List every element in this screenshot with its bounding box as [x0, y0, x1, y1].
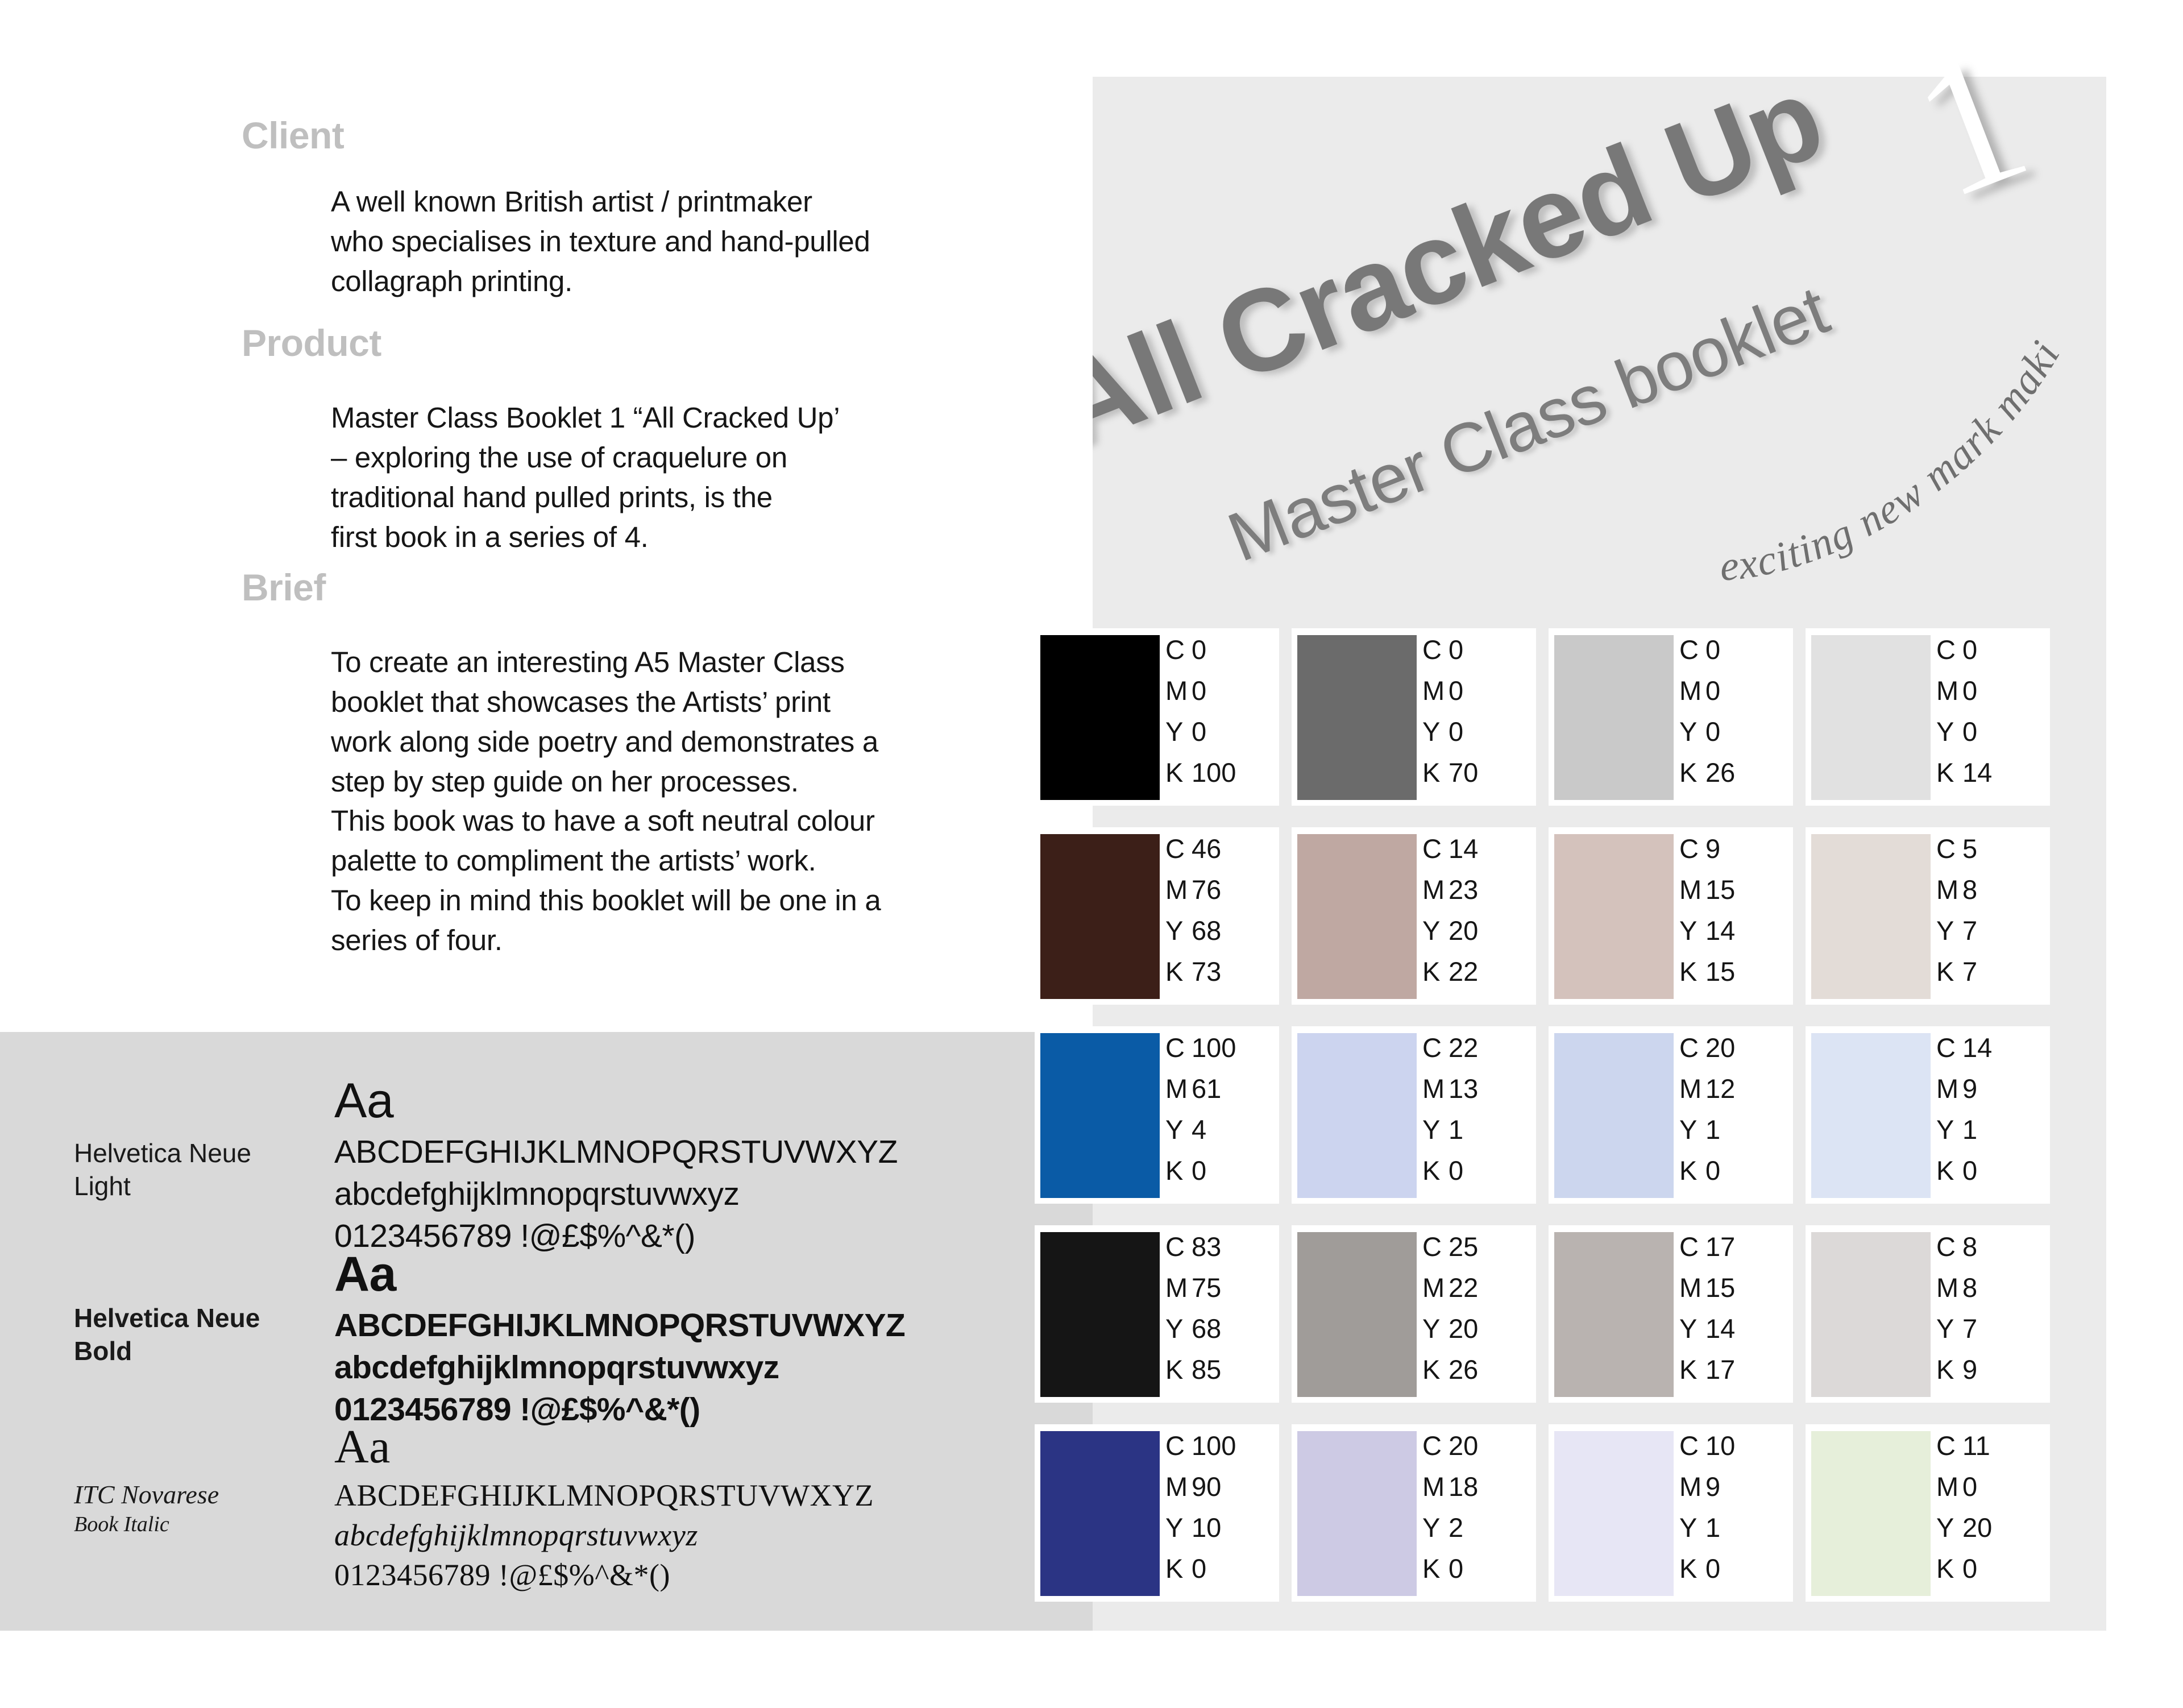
cmyk-values: C0M0Y0K100 — [1165, 629, 1268, 793]
cmyk-channel-value: 0 — [1449, 635, 1463, 665]
cmyk-value-row: K9 — [1936, 1349, 2039, 1390]
cmyk-channel-label: M — [1936, 670, 1962, 711]
cmyk-value-row: C8 — [1936, 1226, 2039, 1267]
colour-swatch-card: C17M15Y14K17 — [1549, 1225, 1793, 1403]
text-line: series of four. — [331, 921, 881, 960]
cmyk-values: C25M22Y20K26 — [1422, 1226, 1525, 1390]
cmyk-channel-label: C — [1422, 1226, 1449, 1267]
cmyk-channel-label: Y — [1936, 711, 1962, 752]
cmyk-channel-value: 20 — [1962, 1512, 1992, 1543]
cmyk-channel-label: C — [1679, 1226, 1705, 1267]
cmyk-value-row: Y20 — [1422, 910, 1525, 951]
cmyk-channel-value: 14 — [1962, 757, 1992, 787]
cmyk-channel-label: Y — [1165, 711, 1192, 752]
cmyk-channel-label: M — [1936, 869, 1962, 910]
cmyk-channel-value: 8 — [1962, 874, 1977, 905]
text-line: booklet that showcases the Artists’ prin… — [331, 682, 881, 722]
cmyk-channel-label: K — [1165, 951, 1192, 992]
cmyk-channel-value: 15 — [1705, 956, 1735, 986]
cmyk-value-row: C22 — [1422, 1027, 1525, 1068]
cmyk-channel-label: C — [1679, 1425, 1705, 1466]
cmyk-channel-value: 20 — [1449, 1313, 1478, 1344]
text-line: To keep in mind this booklet will be one… — [331, 881, 881, 921]
cmyk-channel-value: 0 — [1705, 635, 1720, 665]
typeface-specimen-helvetica-light: Aa ABCDEFGHIJKLMNOPQRSTUVWXYZ abcdefghij… — [334, 1075, 898, 1257]
cmyk-channel-label: Y — [1165, 1507, 1192, 1548]
cmyk-value-row: C100 — [1165, 1027, 1268, 1068]
colour-swatch-chip — [1811, 1431, 1931, 1596]
cmyk-channel-value: 17 — [1705, 1354, 1735, 1384]
cmyk-value-row: M0 — [1936, 1466, 2039, 1507]
cmyk-channel-label: C — [1165, 828, 1192, 869]
colour-swatch-chip — [1297, 1232, 1417, 1397]
cmyk-channel-label: C — [1165, 629, 1192, 670]
cmyk-value-row: K0 — [1679, 1150, 1782, 1191]
section-heading-brief: Brief — [242, 569, 326, 606]
typeface-name-itc-novarese: ITC Novarese Book Italic — [74, 1478, 219, 1538]
cmyk-value-row: M0 — [1679, 670, 1782, 711]
cmyk-values: C0M0Y0K70 — [1422, 629, 1525, 793]
cmyk-channel-value: 0 — [1192, 675, 1206, 706]
cmyk-values: C17M15Y14K17 — [1679, 1226, 1782, 1390]
cmyk-channel-label: M — [1679, 1068, 1705, 1109]
cmyk-channel-value: 68 — [1192, 1313, 1221, 1344]
cmyk-value-row: M18 — [1422, 1466, 1525, 1507]
text-line: A well known British artist / printmaker — [331, 182, 870, 222]
cmyk-channel-label: M — [1165, 1068, 1192, 1109]
text-line: – exploring the use of craquelure on — [331, 438, 840, 478]
typeface-family: ITC Novarese — [74, 1480, 219, 1509]
cmyk-channel-value: 1 — [1705, 1512, 1720, 1543]
cmyk-value-row: Y68 — [1165, 1308, 1268, 1349]
typeface-name-helvetica-bold: Helvetica Neue Bold — [74, 1302, 260, 1367]
colour-swatch-card: C0M0Y0K26 — [1549, 628, 1793, 806]
cmyk-value-row: C20 — [1422, 1425, 1525, 1466]
colour-swatch-chip — [1554, 1033, 1674, 1198]
cmyk-channel-value: 17 — [1705, 1232, 1735, 1262]
colour-swatch-card: C9M15Y14K15 — [1549, 827, 1793, 1005]
colour-swatch-chip — [1297, 1033, 1417, 1198]
cmyk-channel-value: 0 — [1705, 716, 1720, 747]
colour-swatch-card: C14M23Y20K22 — [1292, 827, 1536, 1005]
cmyk-channel-value: 26 — [1705, 757, 1735, 787]
cmyk-value-row: K0 — [1422, 1150, 1525, 1191]
cmyk-value-row: M0 — [1165, 670, 1268, 711]
cmyk-channel-label: K — [1165, 1548, 1192, 1589]
cmyk-channel-label: C — [1936, 1226, 1962, 1267]
cmyk-channel-label: C — [1936, 1425, 1962, 1466]
cmyk-value-row: C10 — [1679, 1425, 1782, 1466]
cmyk-channel-label: C — [1165, 1425, 1192, 1466]
cmyk-value-row: Y0 — [1936, 711, 2039, 752]
cmyk-value-row: C100 — [1165, 1425, 1268, 1466]
cmyk-value-row: K26 — [1679, 752, 1782, 793]
colour-swatch-card: C20M12Y1K0 — [1549, 1026, 1793, 1204]
cmyk-value-row: Y4 — [1165, 1109, 1268, 1150]
cmyk-channel-label: M — [1679, 670, 1705, 711]
cmyk-values: C100M61Y4K0 — [1165, 1027, 1268, 1191]
cmyk-channel-label: Y — [1936, 910, 1962, 951]
cmyk-channel-label: Y — [1422, 910, 1449, 951]
typeface-weight: Bold — [74, 1335, 260, 1368]
cmyk-values: C5M8Y7K7 — [1936, 828, 2039, 992]
cmyk-channel-value: 0 — [1962, 1553, 1977, 1583]
brief-column: Client A well known British artist / pri… — [0, 0, 1001, 1001]
specimen-uppercase: ABCDEFGHIJKLMNOPQRSTUVWXYZ — [334, 1475, 874, 1515]
cmyk-channel-label: C — [1165, 1027, 1192, 1068]
cmyk-channel-value: 15 — [1705, 874, 1735, 905]
cmyk-channel-label: C — [1679, 629, 1705, 670]
colour-swatch-chip — [1554, 1431, 1674, 1596]
cmyk-value-row: K14 — [1936, 752, 2039, 793]
section-heading-client: Client — [242, 117, 344, 154]
colour-swatch-chip — [1040, 1033, 1160, 1198]
cmyk-channel-value: 14 — [1962, 1033, 1992, 1063]
cmyk-channel-value: 13 — [1449, 1073, 1478, 1104]
cmyk-channel-label: Y — [1936, 1507, 1962, 1548]
cmyk-channel-value: 14 — [1705, 1313, 1735, 1344]
section-body-product: Master Class Booklet 1 “All Cracked Up’ … — [331, 398, 840, 557]
colour-swatch-card: C0M0Y0K100 — [1035, 628, 1279, 806]
cmyk-channel-label: M — [1422, 869, 1449, 910]
text-line: This book was to have a soft neutral col… — [331, 801, 881, 841]
cmyk-values: C14M9Y1K0 — [1936, 1027, 2039, 1191]
cmyk-channel-value: 9 — [1705, 834, 1720, 864]
cmyk-channel-value: 15 — [1705, 1272, 1735, 1303]
cmyk-value-row: Y68 — [1165, 910, 1268, 951]
cmyk-channel-label: K — [1936, 1548, 1962, 1589]
cmyk-values: C9M15Y14K15 — [1679, 828, 1782, 992]
cmyk-channel-value: 22 — [1449, 1033, 1478, 1063]
cmyk-channel-value: 76 — [1192, 874, 1221, 905]
cmyk-value-row: M75 — [1165, 1267, 1268, 1308]
cmyk-value-row: K0 — [1422, 1548, 1525, 1589]
cmyk-channel-label: C — [1936, 1027, 1962, 1068]
cmyk-value-row: K0 — [1936, 1150, 2039, 1191]
typeface-family: Helvetica Neue — [74, 1138, 251, 1168]
specimen-lowercase: abcdefghijklmnopqrstuvwxyz — [334, 1173, 898, 1215]
cmyk-channel-value: 0 — [1449, 1553, 1463, 1583]
cmyk-value-row: K70 — [1422, 752, 1525, 793]
typeface-weight: Book Italic — [74, 1511, 219, 1539]
section-heading-product: Product — [242, 324, 381, 362]
cmyk-value-row: K15 — [1679, 951, 1782, 992]
cmyk-value-row: Y14 — [1679, 910, 1782, 951]
cmyk-channel-value: 0 — [1192, 1155, 1206, 1185]
cmyk-value-row: K0 — [1936, 1548, 2039, 1589]
cmyk-value-row: C83 — [1165, 1226, 1268, 1267]
cmyk-channel-value: 100 — [1192, 1431, 1236, 1461]
text-line: work along side poetry and demonstrates … — [331, 722, 881, 762]
cmyk-channel-value: 0 — [1705, 1553, 1720, 1583]
cmyk-channel-label: K — [1165, 1150, 1192, 1191]
cmyk-channel-value: 0 — [1705, 1155, 1720, 1185]
cmyk-channel-value: 75 — [1192, 1272, 1221, 1303]
cmyk-channel-label: C — [1679, 828, 1705, 869]
cmyk-value-row: M12 — [1679, 1068, 1782, 1109]
cmyk-channel-value: 22 — [1449, 956, 1478, 986]
colour-swatch-card: C0M0Y0K14 — [1806, 628, 2050, 806]
cmyk-channel-value: 100 — [1192, 757, 1236, 787]
cmyk-channel-value: 83 — [1192, 1232, 1221, 1262]
cmyk-value-row: M76 — [1165, 869, 1268, 910]
cmyk-channel-value: 0 — [1449, 716, 1463, 747]
cmyk-channel-value: 0 — [1962, 1471, 1977, 1502]
cmyk-values: C46M76Y68K73 — [1165, 828, 1268, 992]
cmyk-channel-value: 1 — [1962, 1114, 1977, 1145]
cmyk-channel-label: K — [1936, 951, 1962, 992]
cmyk-value-row: K0 — [1165, 1150, 1268, 1191]
cmyk-channel-label: C — [1422, 1027, 1449, 1068]
cmyk-value-row: K0 — [1679, 1548, 1782, 1589]
cmyk-values: C10M9Y1K0 — [1679, 1425, 1782, 1589]
cmyk-value-row: M9 — [1679, 1466, 1782, 1507]
cmyk-channel-value: 5 — [1962, 834, 1977, 864]
cmyk-channel-label: M — [1679, 869, 1705, 910]
cmyk-channel-value: 9 — [1962, 1073, 1977, 1104]
cmyk-value-row: K26 — [1422, 1349, 1525, 1390]
cmyk-value-row: M9 — [1936, 1068, 2039, 1109]
cmyk-channel-value: 70 — [1449, 757, 1478, 787]
cmyk-channel-value: 1 — [1449, 1114, 1463, 1145]
cmyk-value-row: C20 — [1679, 1027, 1782, 1068]
colour-swatch-chip — [1297, 635, 1417, 800]
cmyk-channel-value: 8 — [1962, 1232, 1977, 1262]
cmyk-channel-label: K — [1679, 1150, 1705, 1191]
cmyk-channel-value: 20 — [1705, 1033, 1735, 1063]
cmyk-channel-label: Y — [1936, 1308, 1962, 1349]
cmyk-value-row: K22 — [1422, 951, 1525, 992]
cmyk-channel-label: K — [1422, 951, 1449, 992]
cmyk-value-row: M0 — [1422, 670, 1525, 711]
colour-swatch-card: C22M13Y1K0 — [1292, 1026, 1536, 1204]
specimen-aa: Aa — [334, 1075, 898, 1127]
cmyk-channel-label: Y — [1422, 1507, 1449, 1548]
cmyk-channel-value: 10 — [1192, 1512, 1221, 1543]
cmyk-channel-value: 0 — [1449, 675, 1463, 706]
colour-swatch-card: C20M18Y2K0 — [1292, 1424, 1536, 1602]
typeface-specimen-itc-novarese: Aa ABCDEFGHIJKLMNOPQRSTUVWXYZ abcdefghij… — [334, 1421, 874, 1595]
cmyk-value-row: K73 — [1165, 951, 1268, 992]
cmyk-value-row: C14 — [1422, 828, 1525, 869]
cmyk-value-row: Y20 — [1936, 1507, 2039, 1548]
cmyk-value-row: C46 — [1165, 828, 1268, 869]
cmyk-channel-label: C — [1422, 1425, 1449, 1466]
text-line: collagraph printing. — [331, 262, 870, 301]
cmyk-channel-label: M — [1679, 1267, 1705, 1308]
cmyk-channel-value: 8 — [1962, 1272, 1977, 1303]
cmyk-channel-label: Y — [1936, 1109, 1962, 1150]
cmyk-value-row: C0 — [1165, 629, 1268, 670]
cmyk-value-row: C14 — [1936, 1027, 2039, 1068]
specimen-uppercase: ABCDEFGHIJKLMNOPQRSTUVWXYZ — [334, 1131, 898, 1173]
cmyk-channel-label: Y — [1165, 1308, 1192, 1349]
cmyk-value-row: K0 — [1165, 1548, 1268, 1589]
colour-swatch-card: C11M0Y20K0 — [1806, 1424, 2050, 1602]
cmyk-channel-value: 12 — [1705, 1073, 1735, 1104]
cmyk-value-row: C5 — [1936, 828, 2039, 869]
cmyk-values: C0M0Y0K14 — [1936, 629, 2039, 793]
section-body-brief: To create an interesting A5 Master Class… — [331, 642, 881, 960]
colour-swatch-chip — [1040, 635, 1160, 800]
cmyk-channel-label: K — [1165, 1349, 1192, 1390]
cmyk-channel-value: 68 — [1192, 915, 1221, 946]
section-body-client: A well known British artist / printmaker… — [331, 182, 870, 301]
cmyk-channel-label: Y — [1422, 711, 1449, 752]
typeface-name-helvetica-light: Helvetica Neue Light — [74, 1137, 251, 1203]
cmyk-channel-label: K — [1679, 752, 1705, 793]
cmyk-value-row: C25 — [1422, 1226, 1525, 1267]
cmyk-values: C0M0Y0K26 — [1679, 629, 1782, 793]
cmyk-channel-value: 26 — [1449, 1354, 1478, 1384]
colour-swatch-chip — [1554, 1232, 1674, 1397]
cmyk-value-row: M22 — [1422, 1267, 1525, 1308]
colour-swatch-chip — [1040, 1232, 1160, 1397]
cmyk-channel-label: Y — [1165, 1109, 1192, 1150]
colour-swatch-chip — [1297, 834, 1417, 999]
cmyk-channel-value: 2 — [1449, 1512, 1463, 1543]
cmyk-channel-value: 7 — [1962, 956, 1977, 986]
cmyk-channel-label: Y — [1422, 1308, 1449, 1349]
cmyk-channel-value: 1 — [1705, 1114, 1720, 1145]
cmyk-channel-label: Y — [1679, 1308, 1705, 1349]
cmyk-value-row: Y7 — [1936, 1308, 2039, 1349]
cmyk-channel-value: 0 — [1705, 675, 1720, 706]
cmyk-channel-value: 22 — [1449, 1272, 1478, 1303]
colour-swatch-chip — [1040, 1431, 1160, 1596]
cmyk-channel-label: M — [1165, 670, 1192, 711]
cmyk-channel-label: M — [1936, 1068, 1962, 1109]
cmyk-channel-value: 9 — [1705, 1471, 1720, 1502]
cmyk-channel-value: 18 — [1449, 1471, 1478, 1502]
cmyk-value-row: K17 — [1679, 1349, 1782, 1390]
cmyk-value-row: C17 — [1679, 1226, 1782, 1267]
cmyk-values: C20M18Y2K0 — [1422, 1425, 1525, 1589]
colour-swatch-card: C83M75Y68K85 — [1035, 1225, 1279, 1403]
cmyk-values: C100M90Y10K0 — [1165, 1425, 1268, 1589]
cmyk-value-row: Y0 — [1165, 711, 1268, 752]
colour-swatch-chip — [1811, 635, 1931, 800]
cmyk-channel-label: M — [1422, 670, 1449, 711]
cmyk-value-row: C11 — [1936, 1425, 2039, 1466]
cmyk-channel-value: 9 — [1962, 1354, 1977, 1384]
colour-swatch-chip — [1040, 834, 1160, 999]
cmyk-value-row: K100 — [1165, 752, 1268, 793]
cmyk-channel-value: 7 — [1962, 1313, 1977, 1344]
cmyk-channel-value: 14 — [1705, 915, 1735, 946]
cmyk-channel-value: 10 — [1705, 1431, 1735, 1461]
cmyk-value-row: M0 — [1936, 670, 2039, 711]
cmyk-value-row: M8 — [1936, 1267, 2039, 1308]
cmyk-channel-value: 4 — [1192, 1114, 1206, 1145]
cmyk-value-row: Y0 — [1679, 711, 1782, 752]
colour-swatch-card: C14M9Y1K0 — [1806, 1026, 2050, 1204]
cmyk-channel-label: C — [1936, 828, 1962, 869]
cmyk-channel-value: 100 — [1192, 1033, 1236, 1063]
cmyk-channel-label: M — [1165, 1466, 1192, 1507]
cmyk-channel-label: C — [1422, 828, 1449, 869]
cmyk-channel-value: 0 — [1192, 1553, 1206, 1583]
cmyk-values: C14M23Y20K22 — [1422, 828, 1525, 992]
cmyk-channel-label: C — [1422, 629, 1449, 670]
cmyk-value-row: C0 — [1936, 629, 2039, 670]
text-line: first book in a series of 4. — [331, 517, 840, 557]
cmyk-channel-label: K — [1936, 1349, 1962, 1390]
colour-swatch-card: C25M22Y20K26 — [1292, 1225, 1536, 1403]
cmyk-values: C11M0Y20K0 — [1936, 1425, 2039, 1589]
cmyk-value-row: Y7 — [1936, 910, 2039, 951]
text-line: step by step guide on her processes. — [331, 762, 881, 802]
text-line: Master Class Booklet 1 “All Cracked Up’ — [331, 398, 840, 438]
cmyk-value-row: M15 — [1679, 1267, 1782, 1308]
cmyk-channel-label: C — [1679, 1027, 1705, 1068]
cmyk-channel-label: Y — [1679, 1109, 1705, 1150]
cmyk-channel-label: M — [1679, 1466, 1705, 1507]
cmyk-value-row: K85 — [1165, 1349, 1268, 1390]
cmyk-channel-value: 11 — [1962, 1431, 1990, 1461]
cmyk-value-row: Y1 — [1679, 1109, 1782, 1150]
cmyk-channel-value: 7 — [1962, 915, 1977, 946]
specimen-numerals: 0123456789 !@£$%^&*() — [334, 1555, 874, 1595]
cmyk-value-row: M8 — [1936, 869, 2039, 910]
cmyk-channel-label: Y — [1679, 910, 1705, 951]
colour-swatch-card: C100M90Y10K0 — [1035, 1424, 1279, 1602]
cmyk-value-row: Y0 — [1422, 711, 1525, 752]
page-canvas: All Cracked Up Master Class booklet 1 ex… — [0, 0, 2183, 1708]
colour-swatch-chip — [1554, 635, 1674, 800]
text-line: traditional hand pulled prints, is the — [331, 478, 840, 517]
cmyk-channel-label: C — [1165, 1226, 1192, 1267]
cmyk-value-row: Y1 — [1936, 1109, 2039, 1150]
cmyk-value-row: Y1 — [1679, 1507, 1782, 1548]
cmyk-channel-value: 0 — [1962, 716, 1977, 747]
cmyk-channel-value: 46 — [1192, 834, 1221, 864]
specimen-uppercase: ABCDEFGHIJKLMNOPQRSTUVWXYZ — [334, 1304, 905, 1346]
cmyk-channel-value: 20 — [1449, 915, 1478, 946]
cmyk-channel-label: K — [1679, 1349, 1705, 1390]
colour-swatch-chip — [1811, 834, 1931, 999]
cmyk-value-row: K7 — [1936, 951, 2039, 992]
cmyk-value-row: C9 — [1679, 828, 1782, 869]
cmyk-value-row: M90 — [1165, 1466, 1268, 1507]
text-line: palette to compliment the artists’ work. — [331, 841, 881, 881]
cmyk-channel-label: K — [1422, 1349, 1449, 1390]
cmyk-channel-value: 14 — [1449, 834, 1478, 864]
cmyk-channel-label: M — [1165, 1267, 1192, 1308]
cmyk-value-row: Y14 — [1679, 1308, 1782, 1349]
cmyk-channel-value: 0 — [1962, 635, 1977, 665]
cmyk-channel-value: 73 — [1192, 956, 1221, 986]
cmyk-channel-label: Y — [1165, 910, 1192, 951]
cmyk-channel-label: K — [1936, 1150, 1962, 1191]
cmyk-value-row: C0 — [1679, 629, 1782, 670]
cmyk-channel-value: 23 — [1449, 874, 1478, 905]
cmyk-value-row: Y10 — [1165, 1507, 1268, 1548]
specimen-aa: Aa — [334, 1248, 905, 1301]
colour-swatch-card: C100M61Y4K0 — [1035, 1026, 1279, 1204]
cmyk-channel-label: M — [1422, 1466, 1449, 1507]
colour-swatch-card: C5M8Y7K7 — [1806, 827, 2050, 1005]
cmyk-channel-value: 0 — [1192, 716, 1206, 747]
cmyk-value-row: Y2 — [1422, 1507, 1525, 1548]
cmyk-channel-label: M — [1165, 869, 1192, 910]
cmyk-channel-label: M — [1422, 1068, 1449, 1109]
cmyk-channel-label: Y — [1679, 1507, 1705, 1548]
cmyk-channel-label: K — [1422, 1150, 1449, 1191]
cmyk-channel-value: 0 — [1449, 1155, 1463, 1185]
typeface-family: Helvetica Neue — [74, 1303, 260, 1333]
cmyk-value-row: Y20 — [1422, 1308, 1525, 1349]
